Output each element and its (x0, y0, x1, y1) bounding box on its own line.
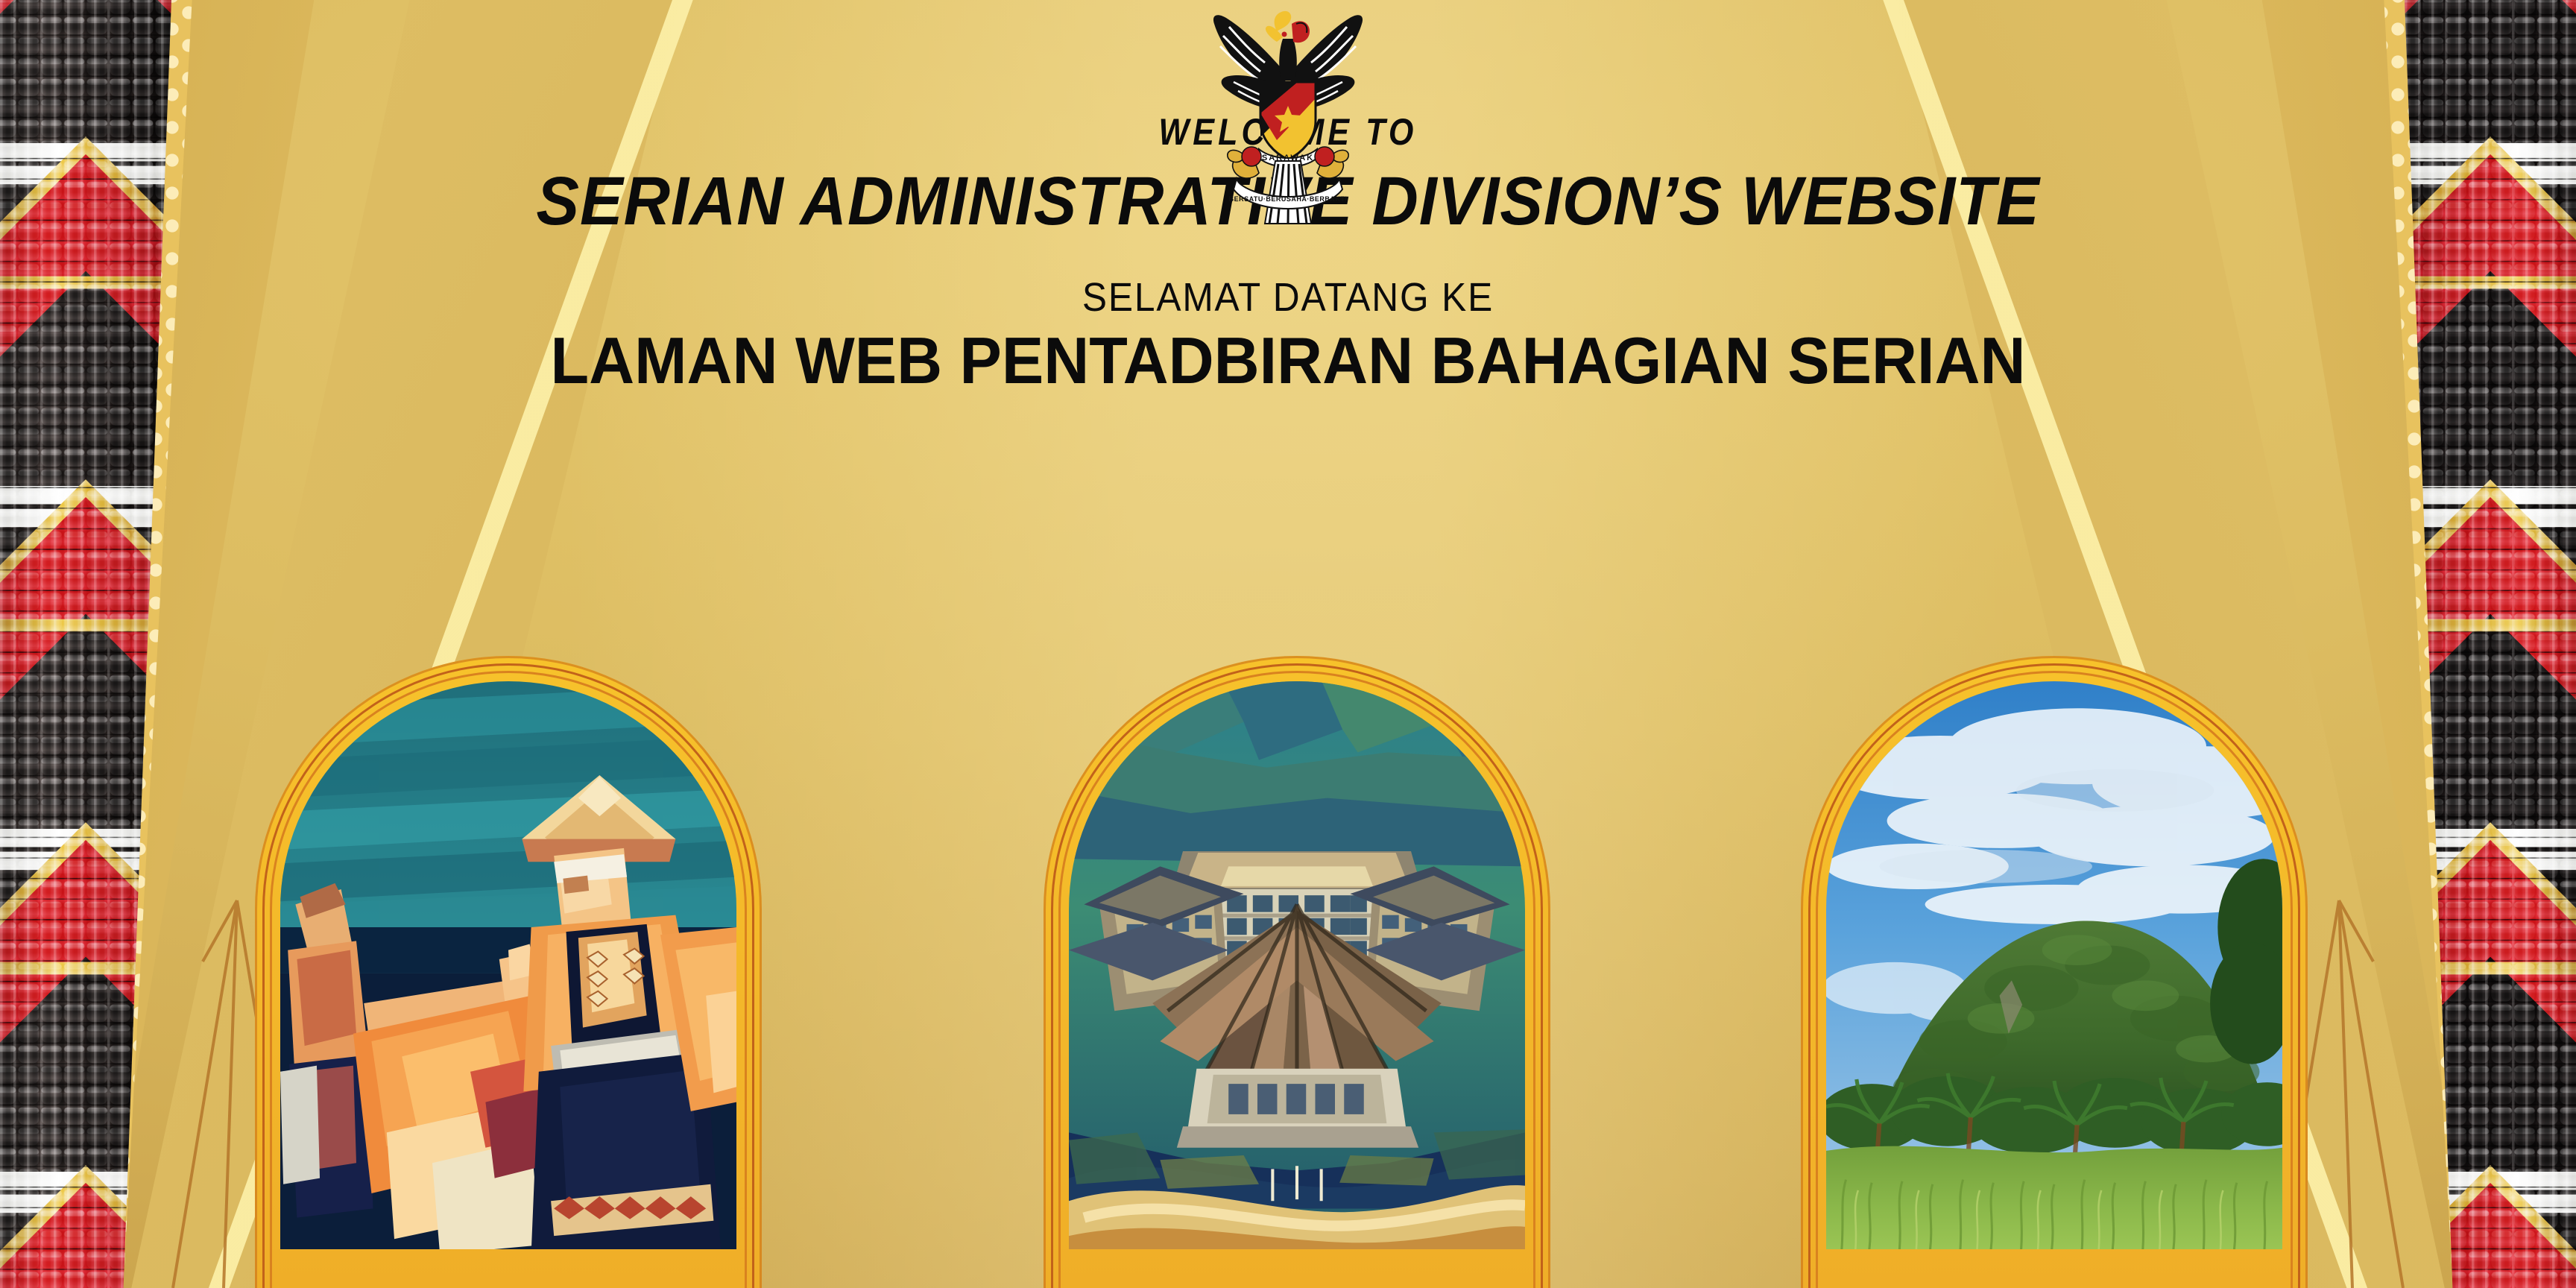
svg-text:BERSATU·BERUSAHA·BERBAKTI: BERSATU·BERUSAHA·BERBAKTI (1229, 195, 1348, 203)
page-title-ms: LAMAN WEB PENTADBIRAN BAHAGIAN SERIAN (51, 328, 2525, 394)
arch-photo-building (1069, 681, 1525, 1249)
arch-frame-costume (255, 656, 762, 1288)
arch-frame-building (1044, 656, 1550, 1288)
arch-frame-landscape (1801, 656, 2308, 1288)
welcome-banner: SARAWAK (0, 0, 2576, 1288)
sarawak-coat-of-arms-icon: SARAWAK (1165, 1, 1411, 225)
arch-photo-costume (280, 681, 736, 1249)
welcome-label-ms: SELAMAT DATANG KE (103, 274, 2473, 321)
arch-photo-landscape (1826, 681, 2282, 1249)
